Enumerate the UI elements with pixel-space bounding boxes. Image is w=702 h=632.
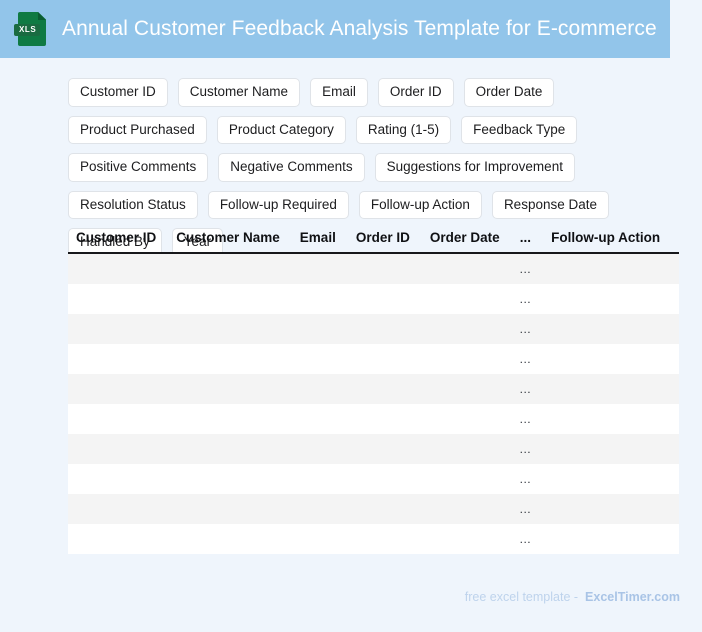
table-cell[interactable] [346,404,420,434]
table-cell[interactable] [420,494,510,524]
table-cell[interactable] [346,464,420,494]
table-cell[interactable] [420,524,510,554]
table-cell[interactable] [541,404,670,434]
table-cell[interactable] [670,253,679,284]
table-cell[interactable] [68,374,166,404]
table-cell[interactable] [166,464,290,494]
table-cell[interactable]: ... [510,494,542,524]
column-chip[interactable]: Positive Comments [68,153,208,182]
table-cell[interactable] [670,404,679,434]
column-chip[interactable]: Negative Comments [218,153,364,182]
table-cell[interactable]: ... [510,344,542,374]
table-cell[interactable] [68,434,166,464]
table-cell[interactable] [290,344,346,374]
table-cell[interactable] [290,494,346,524]
table-row[interactable]: ... [68,284,679,314]
table-row[interactable]: ... [68,524,679,554]
table-cell[interactable] [346,374,420,404]
table-cell[interactable] [420,253,510,284]
table-cell[interactable]: ... [510,253,542,284]
table-cell[interactable] [670,344,679,374]
table-row[interactable]: ... [68,494,679,524]
table-cell[interactable]: ... [510,404,542,434]
xls-file-icon: XLS [18,12,46,46]
table-cell[interactable]: ... [510,434,542,464]
table-cell[interactable] [68,464,166,494]
table-row[interactable]: ... [68,464,679,494]
table-cell[interactable] [541,314,670,344]
table-cell[interactable] [166,374,290,404]
column-chip[interactable]: Customer ID [68,78,168,107]
table-cell[interactable] [290,284,346,314]
table-cell[interactable] [68,494,166,524]
table-cell[interactable] [420,374,510,404]
table-cell[interactable] [670,464,679,494]
table-cell[interactable]: ... [510,314,542,344]
table-cell[interactable]: ... [510,464,542,494]
table-row[interactable]: ... [68,374,679,404]
table-cell[interactable] [541,434,670,464]
table-cell[interactable]: ... [510,284,542,314]
table-column-header[interactable]: Follow-up Action [541,224,670,253]
table-cell[interactable] [166,434,290,464]
table-cell[interactable] [541,374,670,404]
table-cell[interactable] [541,344,670,374]
table-cell[interactable] [166,494,290,524]
table-header: Customer IDCustomer NameEmailOrder IDOrd… [68,224,679,253]
footer-brand-link[interactable]: ExcelTimer.com [585,590,680,604]
column-chip[interactable]: Suggestions for Improvement [375,153,575,182]
table-cell[interactable] [166,524,290,554]
preview-table: Customer IDCustomer NameEmailOrder IDOrd… [68,224,679,554]
footer: free excel template - ExcelTimer.com [465,590,680,604]
table-cell[interactable] [290,524,346,554]
column-chip[interactable]: Product Category [217,116,346,145]
table-cell[interactable] [68,524,166,554]
table-cell[interactable] [420,434,510,464]
table-cell[interactable] [541,284,670,314]
table-preview-viewport: Customer IDCustomer NameEmailOrder IDOrd… [68,224,679,560]
table-cell[interactable] [346,524,420,554]
table-column-header[interactable]: Customer Name [166,224,290,253]
table-cell[interactable] [670,524,679,554]
column-chip[interactable]: Rating (1-5) [356,116,451,145]
table-cell[interactable]: ... [510,374,542,404]
table-column-header[interactable]: Customer ID [68,224,166,253]
column-chip[interactable]: Response Date [492,191,609,220]
table-cell[interactable] [290,374,346,404]
column-chip[interactable]: Follow-up Action [359,191,482,220]
table-column-header[interactable]: ... [510,224,542,253]
table-row[interactable]: ... [68,344,679,374]
header-banner: XLS Annual Customer Feedback Analysis Te… [0,0,670,58]
table-header-row: Customer IDCustomer NameEmailOrder IDOrd… [68,224,679,253]
table-cell[interactable] [541,524,670,554]
table-column-header[interactable]: Response Date [670,224,679,253]
table-cell[interactable] [670,284,679,314]
table-cell[interactable] [166,404,290,434]
page-title: Annual Customer Feedback Analysis Templa… [62,17,657,41]
table-cell[interactable] [420,464,510,494]
table-body: .............................. [68,253,679,554]
column-chip[interactable]: Product Purchased [68,116,207,145]
table-cell[interactable] [346,284,420,314]
column-chip[interactable]: Customer Name [178,78,300,107]
table-column-header[interactable]: Order Date [420,224,510,253]
table-cell[interactable] [346,344,420,374]
column-chip[interactable]: Feedback Type [461,116,577,145]
column-chip[interactable]: Order ID [378,78,454,107]
column-chip[interactable]: Order Date [464,78,555,107]
table-cell[interactable] [68,253,166,284]
table-cell[interactable] [541,253,670,284]
column-chip[interactable]: Follow-up Required [208,191,349,220]
table-row[interactable]: ... [68,434,679,464]
table-cell[interactable] [68,404,166,434]
table-cell[interactable] [166,253,290,284]
table-cell[interactable] [290,314,346,344]
table-cell[interactable] [166,284,290,314]
table-cell[interactable]: ... [510,524,542,554]
footer-text: free excel template - [465,590,578,604]
table-cell[interactable] [420,284,510,314]
table-cell[interactable] [290,434,346,464]
table-cell[interactable] [68,314,166,344]
table-cell[interactable] [346,253,420,284]
xls-icon-label: XLS [14,24,40,36]
table-row[interactable]: ... [68,253,679,284]
table-cell[interactable] [670,494,679,524]
column-chip[interactable]: Resolution Status [68,191,198,220]
table-column-header[interactable]: Email [290,224,346,253]
table-cell[interactable] [346,434,420,464]
table-cell[interactable] [670,314,679,344]
table-row[interactable]: ... [68,404,679,434]
table-cell[interactable] [290,253,346,284]
table-cell[interactable] [420,404,510,434]
table-row[interactable]: ... [68,314,679,344]
table-cell[interactable] [420,344,510,374]
table-cell[interactable] [420,314,510,344]
column-chip[interactable]: Email [310,78,368,107]
table-cell[interactable] [68,284,166,314]
table-column-header[interactable]: Order ID [346,224,420,253]
table-cell[interactable] [166,344,290,374]
table-cell[interactable] [346,494,420,524]
table-cell[interactable] [670,434,679,464]
table-cell[interactable] [670,374,679,404]
table-cell[interactable] [166,314,290,344]
table-cell[interactable] [290,404,346,434]
table-cell[interactable] [68,344,166,374]
table-cell[interactable] [346,314,420,344]
table-cell[interactable] [541,464,670,494]
table-cell[interactable] [541,494,670,524]
table-cell[interactable] [290,464,346,494]
